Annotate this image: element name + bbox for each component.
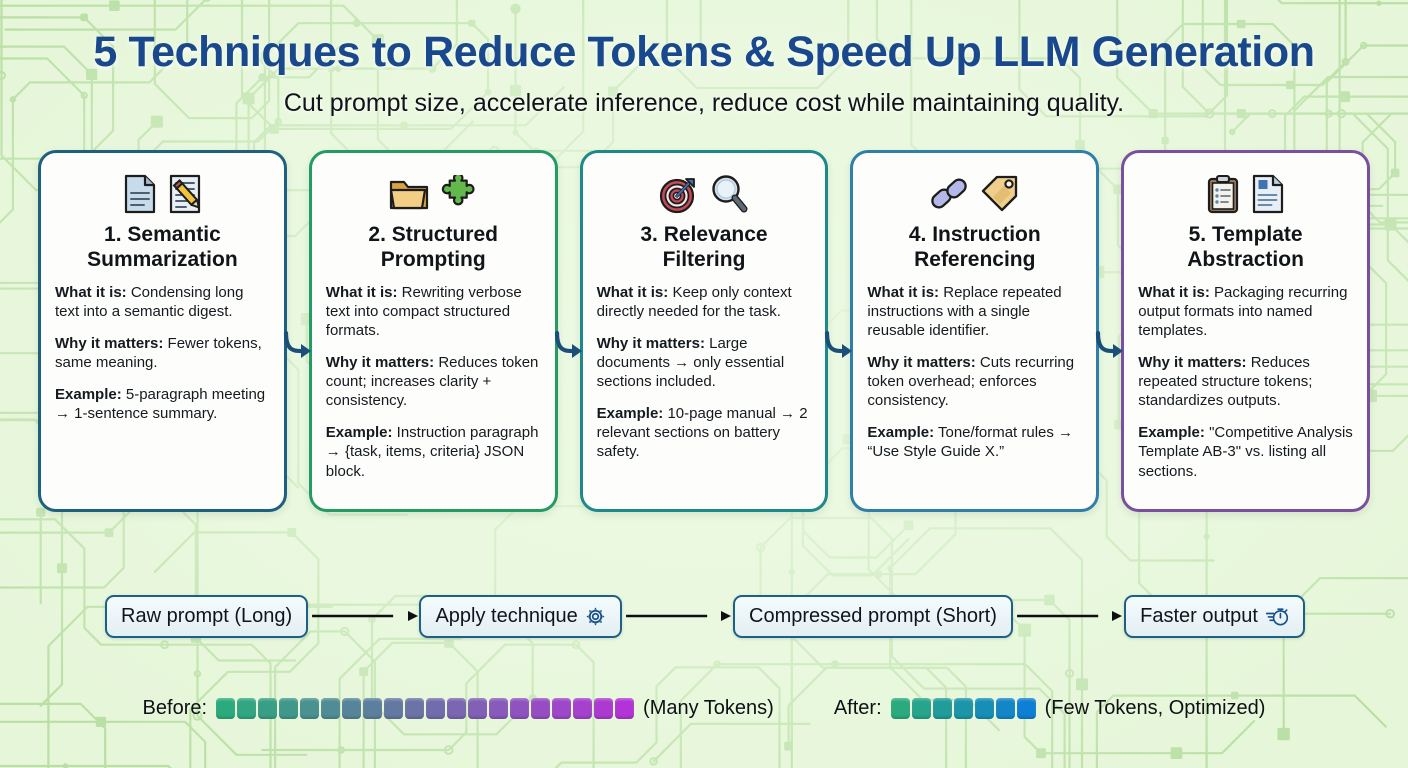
card-example-label: Example: <box>55 386 122 403</box>
card-why-it-matters-label: Why it matters: <box>867 354 975 371</box>
flow-step-label: Raw prompt (Long) <box>121 605 292 628</box>
card-icon-group <box>55 167 270 221</box>
page-subtitle: Cut prompt size, accelerate inference, r… <box>0 89 1408 118</box>
card-title: 4. Instruction Referencing <box>867 223 1082 272</box>
magnifying-glass-icon <box>710 174 748 214</box>
card-example: Example: "Competitive Analysis Template … <box>1138 423 1353 480</box>
card-why-it-matters-label: Why it matters: <box>326 354 434 371</box>
card-why-it-matters-label: Why it matters: <box>55 335 163 352</box>
before-token <box>300 698 319 719</box>
card-example-label: Example: <box>326 424 393 441</box>
flow-step-2[interactable]: Apply technique <box>419 595 621 638</box>
card-why-it-matters: Why it matters: Large documents → only e… <box>597 334 812 391</box>
before-label: Before: <box>143 697 207 720</box>
card-why-it-matters-label: Why it matters: <box>1138 354 1246 371</box>
page-title: 5 Techniques to Reduce Tokens & Speed Up… <box>0 30 1408 76</box>
before-token <box>615 698 634 719</box>
before-token <box>426 698 445 719</box>
before-token <box>468 698 487 719</box>
card-why-it-matters: Why it matters: Fewer tokens, same meani… <box>55 334 270 372</box>
card-example-label: Example: <box>597 405 664 422</box>
before-token <box>321 698 340 719</box>
card-title: 1. Semantic Summarization <box>55 223 270 272</box>
flow-step-3[interactable]: Compressed prompt (Short) <box>733 595 1013 638</box>
technique-card-5[interactable]: 5. Template AbstractionWhat it is: Packa… <box>1121 150 1370 512</box>
technique-cards-row: 1. Semantic SummarizationWhat it is: Con… <box>38 150 1370 512</box>
after-token-group: After: (Few Tokens, Optimized) <box>834 697 1266 720</box>
card-why-it-matters: Why it matters: Reduces token count; inc… <box>326 353 541 410</box>
after-token <box>996 698 1015 719</box>
flow-arrow-2 <box>622 607 733 625</box>
card-what-it-is-label: What it is: <box>597 284 669 301</box>
before-token <box>531 698 550 719</box>
after-token-strip <box>891 698 1036 719</box>
before-token <box>384 698 403 719</box>
before-token <box>363 698 382 719</box>
token-comparison-legend: Before: (Many Tokens) After: (Few Tokens… <box>0 688 1408 728</box>
before-token <box>573 698 592 719</box>
card-icon-group <box>1138 167 1353 221</box>
page-document-icon <box>123 174 157 214</box>
card-icon-group <box>326 167 541 221</box>
after-label: After: <box>834 697 882 720</box>
flow-arrow-3 <box>1013 607 1124 625</box>
stopwatch-icon <box>1265 606 1289 627</box>
card-title: 3. Relevance Filtering <box>597 223 812 272</box>
card-example: Example: Instruction paragraph → {task, … <box>326 423 541 480</box>
document-page-icon <box>1251 174 1285 214</box>
clipboard-icon <box>1206 174 1240 214</box>
after-token <box>912 698 931 719</box>
dart-target-icon <box>659 174 699 214</box>
card-what-it-is: What it is: Condensing long text into a … <box>55 283 270 321</box>
card-body: What it is: Rewriting verbose text into … <box>326 283 541 480</box>
card-body: What it is: Packaging recurring output f… <box>1138 283 1353 480</box>
card-example-label: Example: <box>1138 424 1205 441</box>
before-token <box>594 698 613 719</box>
technique-card-1[interactable]: 1. Semantic SummarizationWhat it is: Con… <box>38 150 287 512</box>
flow-arrow-1 <box>308 607 419 625</box>
before-token <box>237 698 256 719</box>
after-note: (Few Tokens, Optimized) <box>1045 697 1266 720</box>
folder-icon <box>389 176 429 212</box>
card-what-it-is-label: What it is: <box>55 284 127 301</box>
technique-card-3[interactable]: 3. Relevance FilteringWhat it is: Keep o… <box>580 150 829 512</box>
flow-step-label: Faster output <box>1140 605 1258 628</box>
after-token <box>954 698 973 719</box>
card-what-it-is: What it is: Keep only context directly n… <box>597 283 812 321</box>
card-example-label: Example: <box>867 424 934 441</box>
before-token <box>552 698 571 719</box>
card-what-it-is-label: What it is: <box>326 284 398 301</box>
after-token <box>933 698 952 719</box>
after-token <box>975 698 994 719</box>
before-token <box>342 698 361 719</box>
before-token-group: Before: (Many Tokens) <box>143 697 774 720</box>
before-note: (Many Tokens) <box>643 697 774 720</box>
card-title: 5. Template Abstraction <box>1138 223 1353 272</box>
card-connector-arrow-2 <box>553 325 587 369</box>
card-why-it-matters: Why it matters: Reduces repeated structu… <box>1138 353 1353 410</box>
before-token <box>447 698 466 719</box>
card-body: What it is: Condensing long text into a … <box>55 283 270 423</box>
card-icon-group <box>597 167 812 221</box>
flow-step-1[interactable]: Raw prompt (Long) <box>105 595 308 638</box>
flow-step-4[interactable]: Faster output <box>1124 595 1305 638</box>
card-example: Example: Tone/format rules → “Use Style … <box>867 423 1082 461</box>
card-connector-arrow-4 <box>1094 325 1128 369</box>
flow-step-label: Compressed prompt (Short) <box>749 605 997 628</box>
card-what-it-is-label: What it is: <box>1138 284 1210 301</box>
process-flow: Raw prompt (Long)Apply techniqueCompress… <box>105 592 1305 640</box>
technique-card-2[interactable]: 2. Structured PromptingWhat it is: Rewri… <box>309 150 558 512</box>
before-token <box>216 698 235 719</box>
chain-link-icon <box>929 175 969 213</box>
card-what-it-is: What it is: Packaging recurring output f… <box>1138 283 1353 340</box>
label-tag-icon <box>980 175 1020 213</box>
gear-icon <box>585 606 606 627</box>
card-why-it-matters-label: Why it matters: <box>597 335 705 352</box>
puzzle-piece-icon <box>440 175 478 213</box>
card-what-it-is: What it is: Rewriting verbose text into … <box>326 283 541 340</box>
header: 5 Techniques to Reduce Tokens & Speed Up… <box>0 0 1408 118</box>
flow-step-label: Apply technique <box>435 605 577 628</box>
before-token <box>258 698 277 719</box>
card-what-it-is: What it is: Replace repeated instruction… <box>867 283 1082 340</box>
memo-pencil-icon <box>168 174 202 214</box>
before-token-strip <box>216 698 634 719</box>
after-token <box>891 698 910 719</box>
before-token <box>510 698 529 719</box>
technique-card-4[interactable]: 4. Instruction ReferencingWhat it is: Re… <box>850 150 1099 512</box>
card-title: 2. Structured Prompting <box>326 223 541 272</box>
before-token <box>405 698 424 719</box>
card-connector-arrow-1 <box>282 325 316 369</box>
card-connector-arrow-3 <box>823 325 857 369</box>
card-body: What it is: Keep only context directly n… <box>597 283 812 461</box>
card-what-it-is-label: What it is: <box>867 284 939 301</box>
card-example: Example: 5-paragraph meeting → 1-sentenc… <box>55 385 270 423</box>
card-icon-group <box>867 167 1082 221</box>
after-token <box>1017 698 1036 719</box>
card-body: What it is: Replace repeated instruction… <box>867 283 1082 461</box>
before-token <box>279 698 298 719</box>
before-token <box>489 698 508 719</box>
card-example: Example: 10-page manual → 2 relevant sec… <box>597 404 812 461</box>
card-why-it-matters: Why it matters: Cuts recurring token ove… <box>867 353 1082 410</box>
